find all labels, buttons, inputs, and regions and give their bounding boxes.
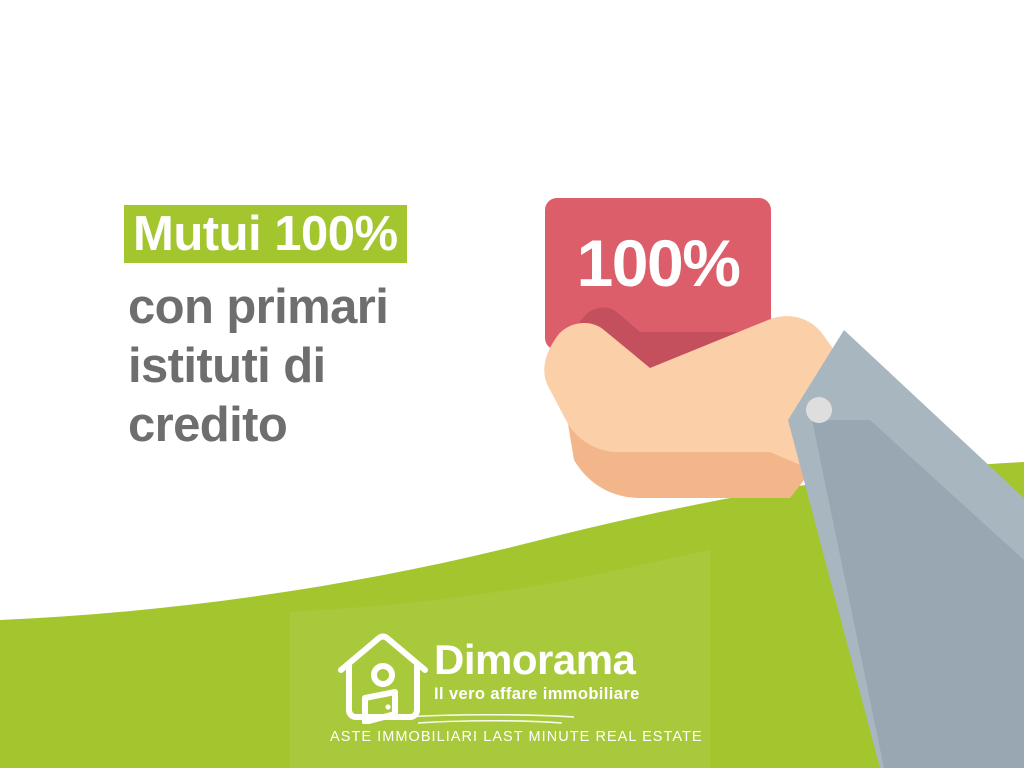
logo-divider <box>402 714 578 726</box>
headline-line-2: con primari <box>128 278 554 337</box>
dimorama-logo-lockup[interactable]: Dimorama Il vero affare immobiliare ASTE… <box>330 622 700 750</box>
promo-card-100-percent: 100% <box>545 198 771 350</box>
divider-line-bottom <box>418 721 562 723</box>
headline-block: Mutui 100% con primari istituti di credi… <box>124 205 554 455</box>
logo-tagline: Il vero affare immobiliare <box>434 684 700 704</box>
house-icon <box>335 632 431 724</box>
promo-card-value: 100% <box>545 198 771 350</box>
house-window-icon <box>374 666 392 684</box>
headline-highlight-text: Mutui 100% <box>124 205 407 263</box>
logo-wordmark: Dimorama <box>434 638 700 682</box>
house-outline-shape <box>341 637 425 718</box>
logo-footer-text: ASTE IMMOBILIARI LAST MINUTE REAL ESTATE <box>330 728 700 746</box>
door-handle-icon <box>385 704 390 709</box>
divider-line-top <box>406 715 574 717</box>
headline-highlight-row: Mutui 100% <box>124 205 554 263</box>
headline-line-4: credito <box>128 396 554 455</box>
logo-text-block: Dimorama Il vero affare immobiliare <box>434 638 700 704</box>
promotional-banner: Mutui 100% con primari istituti di credi… <box>0 0 1024 768</box>
headline-line-3: istituti di <box>128 337 554 396</box>
